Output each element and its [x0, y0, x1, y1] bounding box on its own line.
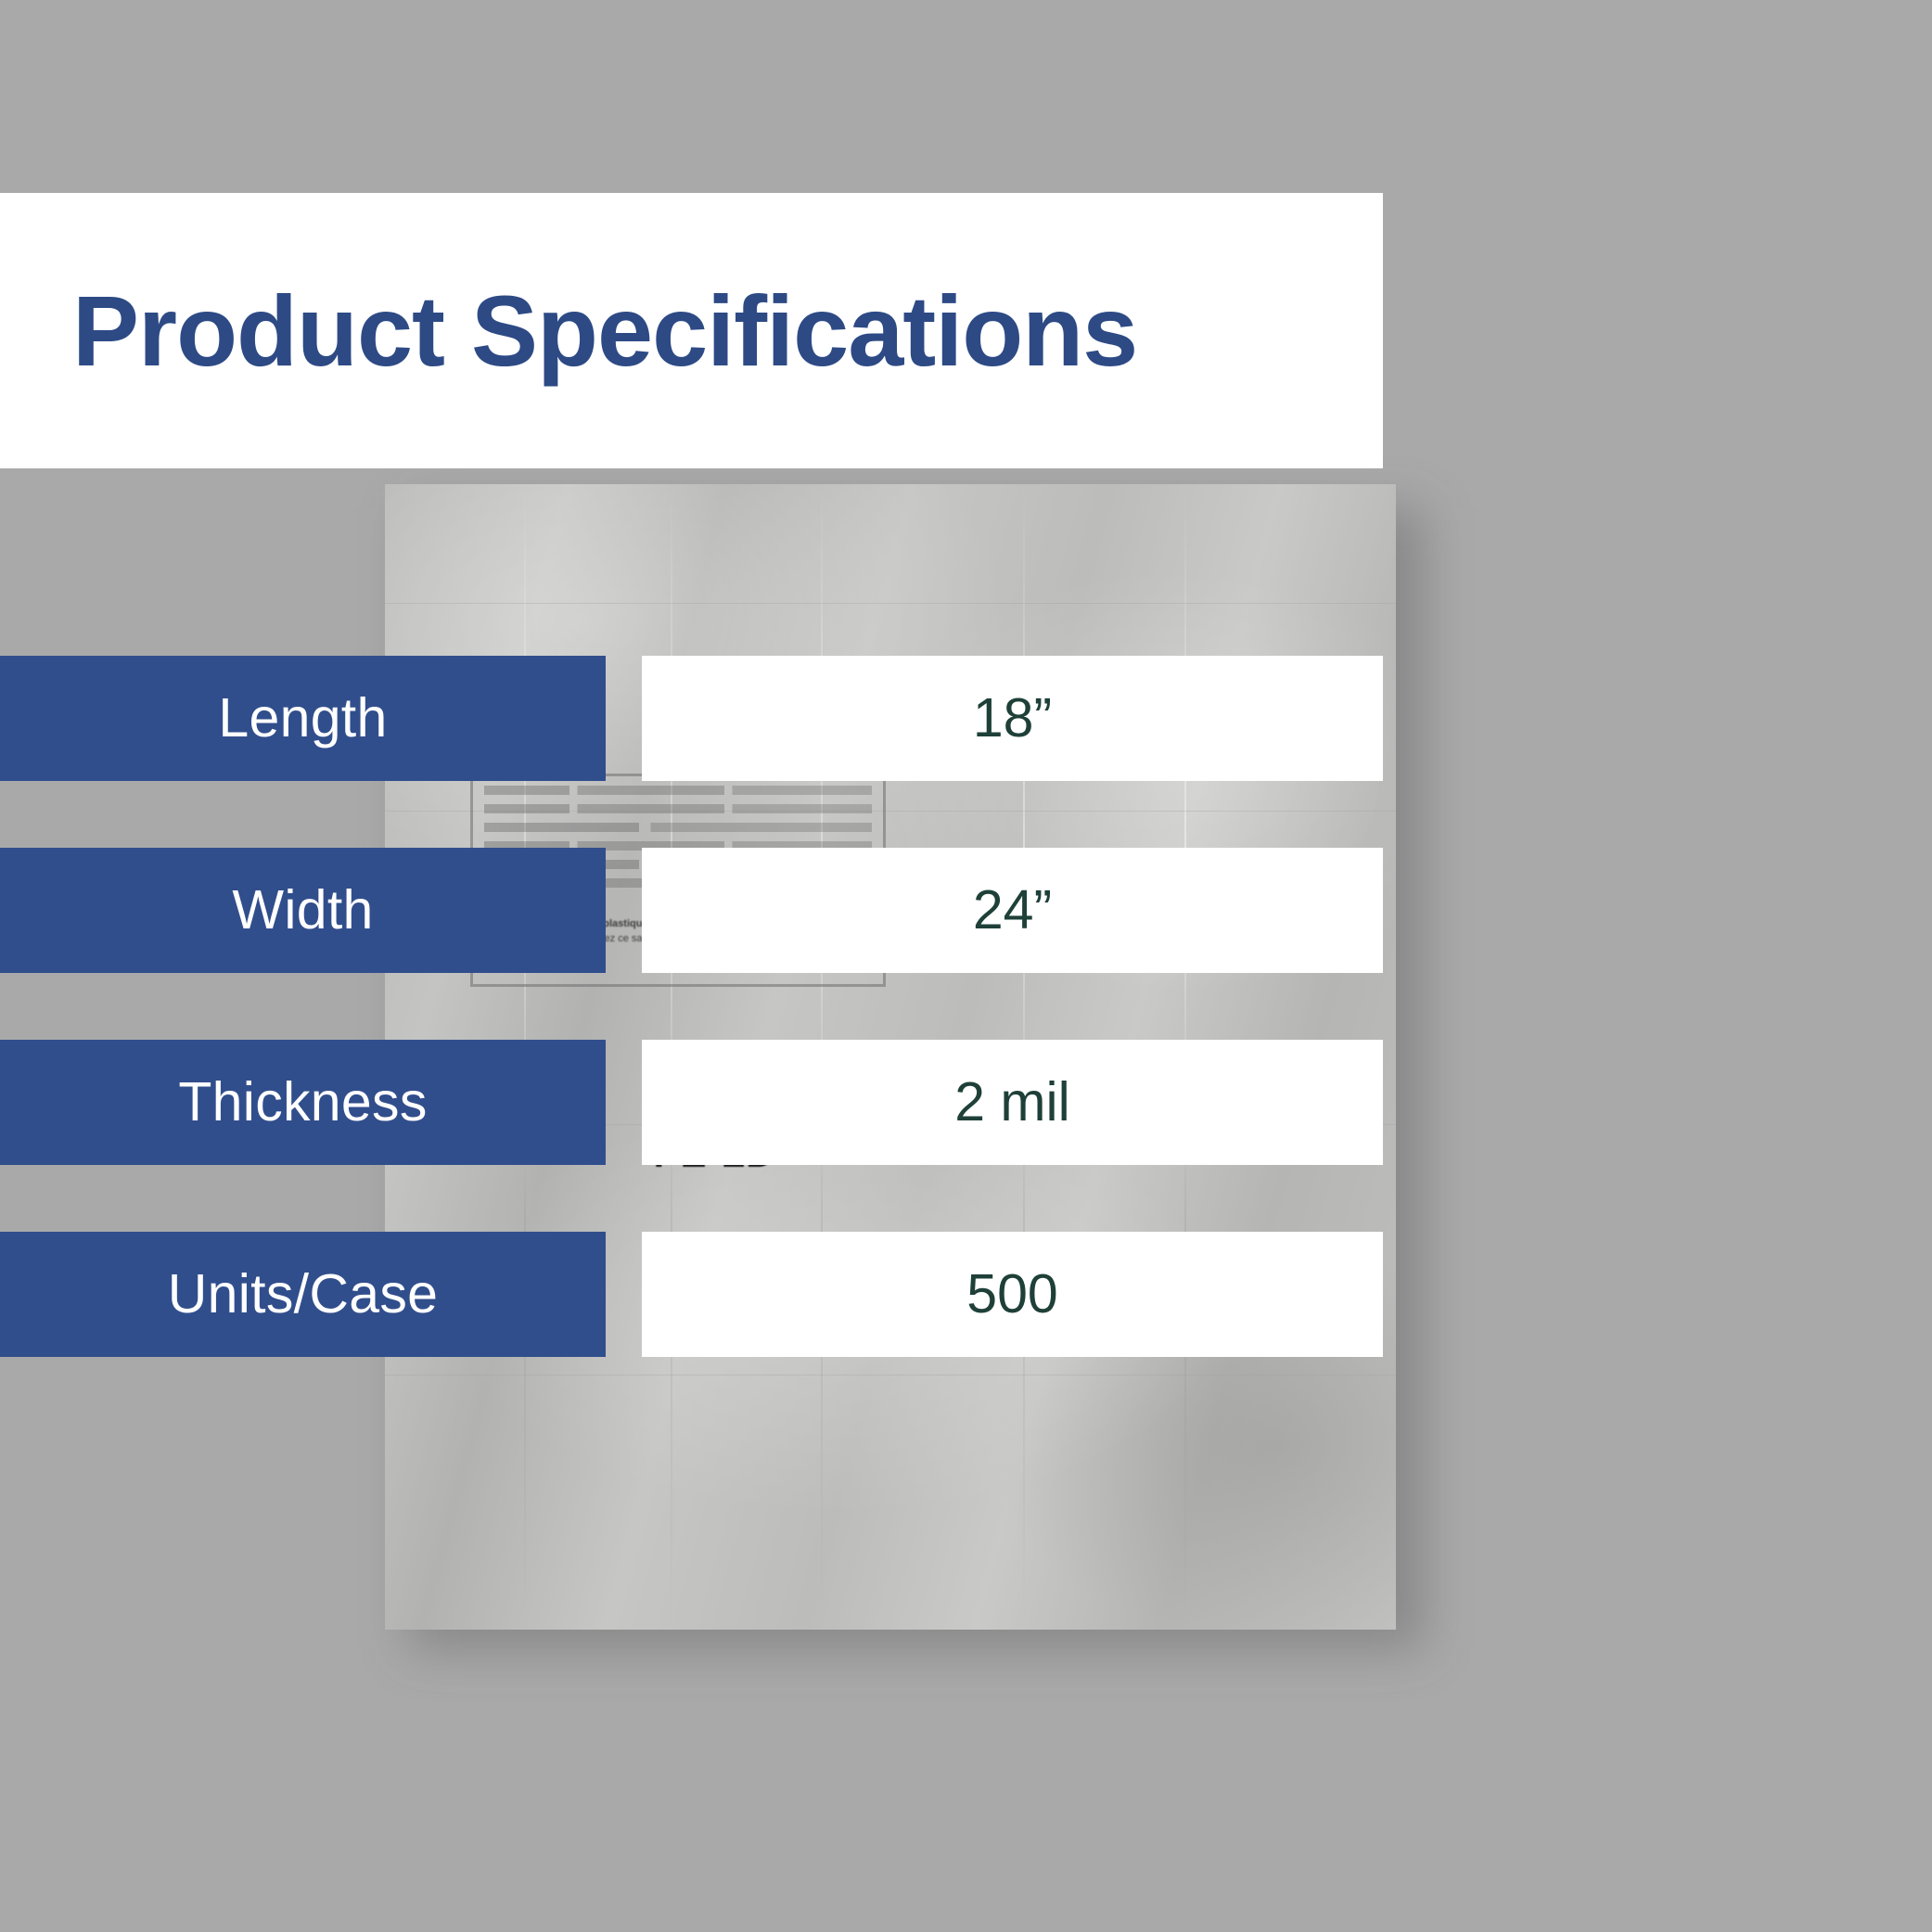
spec-label-text: Units/Case [168, 1267, 439, 1322]
page-title: Product Specifications [0, 281, 1137, 381]
spec-value-cell-width: 24” [642, 848, 1383, 973]
spec-label-cell-width: Width [0, 848, 606, 973]
spec-value-text: 500 [966, 1267, 1057, 1322]
spec-label-cell-length: Length [0, 656, 606, 781]
spec-value-cell-units-per-case: 500 [642, 1232, 1383, 1357]
spec-label-text: Length [218, 691, 387, 746]
spec-table: Length 18” Width 24” Thickness 2 mil [0, 656, 1383, 1357]
bag-fold [385, 1375, 1396, 1375]
spec-row-length: Length 18” [0, 656, 1383, 781]
header-banner: Product Specifications [0, 193, 1383, 468]
spec-label-cell-thickness: Thickness [0, 1040, 606, 1165]
spec-row-units-per-case: Units/Case 500 [0, 1232, 1383, 1357]
spec-row-thickness: Thickness 2 mil [0, 1040, 1383, 1165]
spec-value-cell-thickness: 2 mil [642, 1040, 1383, 1165]
spec-label-text: Width [232, 883, 373, 938]
spec-label-cell-units-per-case: Units/Case [0, 1232, 606, 1357]
spec-value-text: 2 mil [954, 1075, 1070, 1130]
spec-label-text: Thickness [178, 1075, 427, 1130]
spec-row-width: Width 24” [0, 848, 1383, 973]
spec-value-text: 24” [973, 883, 1052, 938]
spec-value-text: 18” [973, 691, 1052, 746]
spec-value-cell-length: 18” [642, 656, 1383, 781]
poster-canvas: ATTENTION: Les sacs en plastique peuvent… [0, 0, 1932, 1932]
bag-fold [385, 603, 1396, 604]
